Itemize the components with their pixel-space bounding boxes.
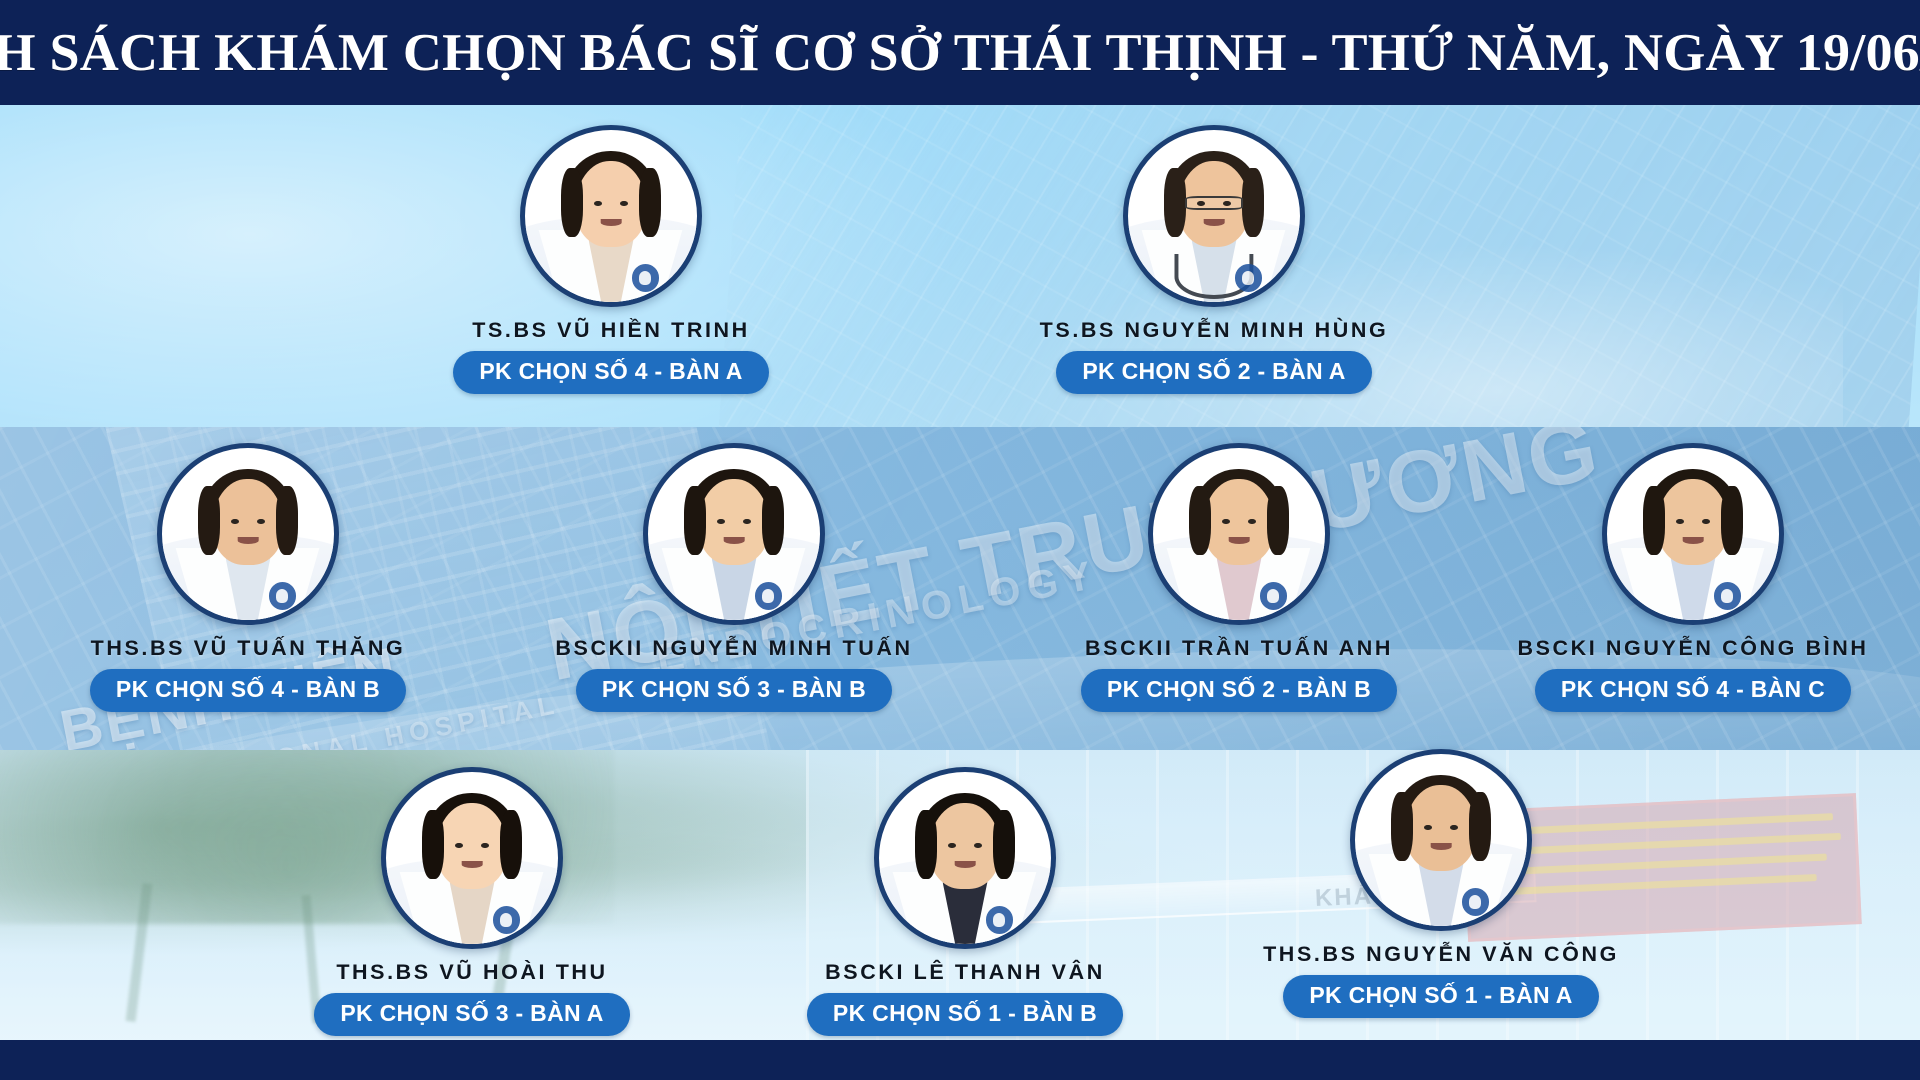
page-title: DANH SÁCH KHÁM CHỌN BÁC SĨ CƠ SỞ THÁI TH…	[0, 23, 1920, 83]
room-badge[interactable]: PK CHỌN SỐ 4 - BÀN C	[1535, 669, 1851, 712]
portrait-photo	[386, 772, 558, 944]
portrait-photo	[648, 448, 820, 620]
avatar	[157, 443, 339, 625]
doctor-name: BSCKII NGUYỄN MINH TUẤN	[555, 636, 912, 661]
doctor-card[interactable]: BSCKI NGUYỄN CÔNG BÌNH PK CHỌN SỐ 4 - BÀ…	[1483, 443, 1903, 712]
room-badge[interactable]: PK CHỌN SỐ 2 - BÀN A	[1056, 351, 1371, 394]
poster-stage: NỘI TIẾT TRUNG ƯƠNG ENDOCRINOLOGY BỆNH V…	[0, 0, 1920, 1080]
portrait-photo	[1355, 754, 1527, 926]
avatar	[874, 767, 1056, 949]
avatar	[1350, 749, 1532, 931]
doctor-name: THS.BS VŨ HOÀI THU	[336, 960, 607, 985]
doctor-card[interactable]: THS.BS VŨ HOÀI THU PK CHỌN SỐ 3 - BÀN A	[262, 767, 682, 1036]
doctor-card[interactable]: BSCKII NGUYỄN MINH TUẤN PK CHỌN SỐ 3 - B…	[524, 443, 944, 712]
doctor-name: TS.BS VŨ HIỀN TRINH	[472, 318, 750, 343]
room-badge[interactable]: PK CHỌN SỐ 4 - BÀN A	[453, 351, 768, 394]
doctor-name: THS.BS NGUYỄN VĂN CÔNG	[1263, 942, 1619, 967]
room-badge[interactable]: PK CHỌN SỐ 1 - BÀN A	[1283, 975, 1598, 1018]
doctor-card[interactable]: BSCKI LÊ THANH VÂN PK CHỌN SỐ 1 - BÀN B	[755, 767, 1175, 1036]
portrait-photo	[1607, 448, 1779, 620]
avatar	[381, 767, 563, 949]
room-badge[interactable]: PK CHỌN SỐ 2 - BÀN B	[1081, 669, 1397, 712]
room-badge[interactable]: PK CHỌN SỐ 3 - BÀN B	[576, 669, 892, 712]
avatar	[1148, 443, 1330, 625]
doctor-card[interactable]: TS.BS VŨ HIỀN TRINH PK CHỌN SỐ 4 - BÀN A	[401, 125, 821, 394]
avatar	[520, 125, 702, 307]
room-badge[interactable]: PK CHỌN SỐ 4 - BÀN B	[90, 669, 406, 712]
portrait-photo	[525, 130, 697, 302]
portrait-photo	[1128, 130, 1300, 302]
doctor-name: TS.BS NGUYỄN MINH HÙNG	[1040, 318, 1389, 343]
avatar	[1123, 125, 1305, 307]
doctor-card[interactable]: BSCKII TRẦN TUẤN ANH PK CHỌN SỐ 2 - BÀN …	[1029, 443, 1449, 712]
title-bar: DANH SÁCH KHÁM CHỌN BÁC SĨ CƠ SỞ THÁI TH…	[0, 0, 1920, 105]
band-top-background	[0, 105, 1920, 427]
doctor-name: BSCKI NGUYỄN CÔNG BÌNH	[1517, 636, 1868, 661]
portrait-photo	[879, 772, 1051, 944]
doctor-card[interactable]: THS.BS VŨ TUẤN THĂNG PK CHỌN SỐ 4 - BÀN …	[38, 443, 458, 712]
portrait-photo	[1153, 448, 1325, 620]
doctor-name: BSCKI LÊ THANH VÂN	[825, 960, 1105, 985]
portrait-photo	[162, 448, 334, 620]
avatar	[1602, 443, 1784, 625]
footer-bar	[0, 1040, 1920, 1080]
avatar	[643, 443, 825, 625]
doctor-card[interactable]: THS.BS NGUYỄN VĂN CÔNG PK CHỌN SỐ 1 - BÀ…	[1231, 749, 1651, 1018]
doctor-name: BSCKII TRẦN TUẤN ANH	[1085, 636, 1393, 661]
room-badge[interactable]: PK CHỌN SỐ 3 - BÀN A	[314, 993, 629, 1036]
doctor-card[interactable]: TS.BS NGUYỄN MINH HÙNG PK CHỌN SỐ 2 - BÀ…	[1004, 125, 1424, 394]
room-badge[interactable]: PK CHỌN SỐ 1 - BÀN B	[807, 993, 1123, 1036]
doctor-name: THS.BS VŨ TUẤN THĂNG	[91, 636, 406, 661]
